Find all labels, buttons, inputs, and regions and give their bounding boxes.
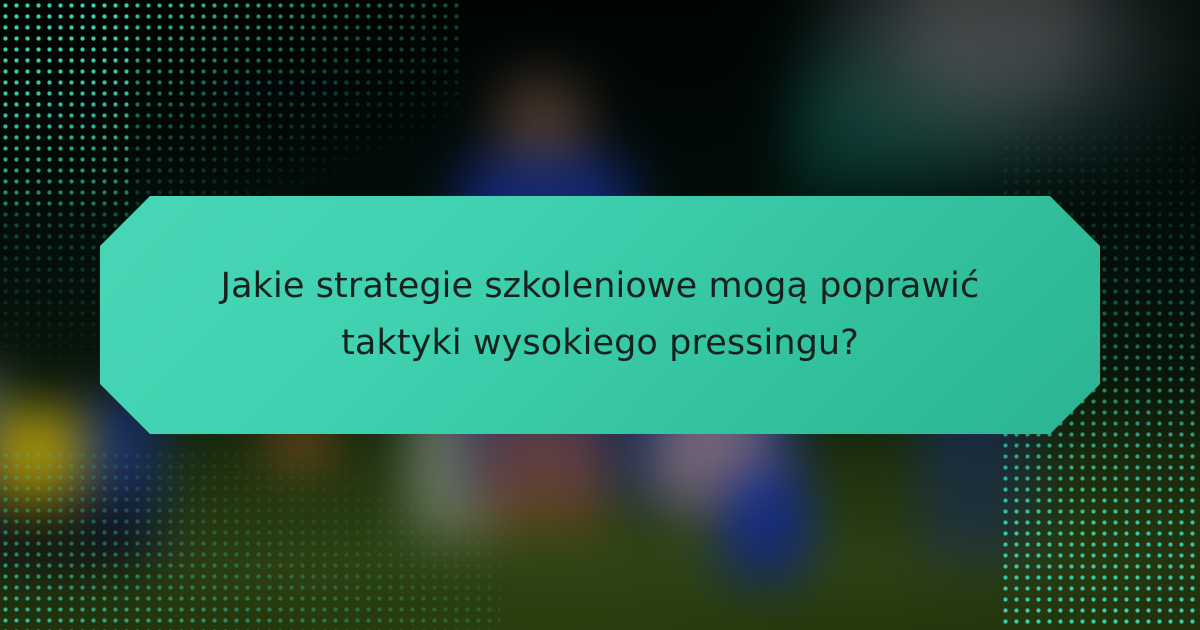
headline-banner: Jakie strategie szkoleniowe mogą poprawi… xyxy=(100,196,1100,434)
social-card: Jakie strategie szkoleniowe mogą poprawi… xyxy=(0,0,1200,630)
headline-text: Jakie strategie szkoleniowe mogą poprawi… xyxy=(130,258,1070,371)
